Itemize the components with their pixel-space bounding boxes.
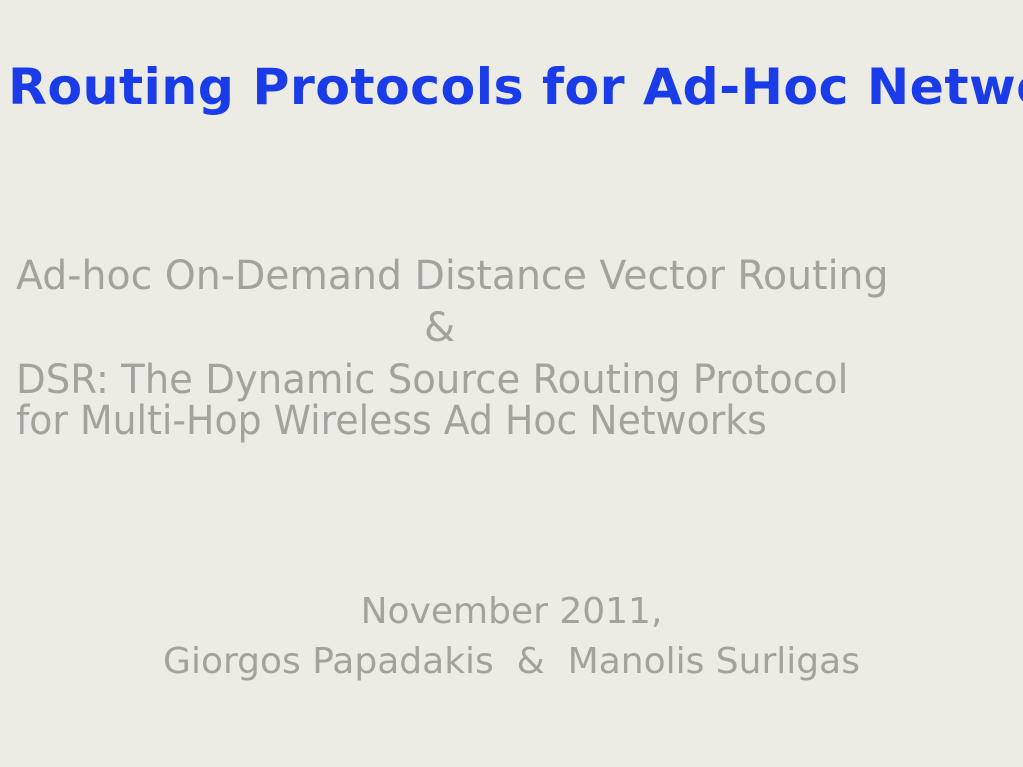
subtitle-block: Ad-hoc On-Demand Distance Vector Routing… xyxy=(16,256,1007,441)
presentation-date: November 2011, xyxy=(0,594,1023,630)
subtitle-ampersand: & xyxy=(16,308,1007,348)
page-title: Routing Protocols for Ad-Hoc Networks xyxy=(8,58,1023,116)
subtitle-line-dsr-subtitle: for Multi-Hop Wireless Ad Hoc Networks xyxy=(16,401,952,441)
presentation-authors: Giorgos Papadakis & Manolis Surligas xyxy=(0,644,1023,680)
subtitle-line-aodv: Ad-hoc On-Demand Distance Vector Routing xyxy=(16,256,992,296)
footer-block: November 2011, Giorgos Papadakis & Manol… xyxy=(0,594,1023,680)
subtitle-line-dsr-title: DSR: The Dynamic Source Routing Protocol xyxy=(16,360,972,400)
presentation-slide: Routing Protocols for Ad-Hoc Networks Ad… xyxy=(0,0,1023,767)
